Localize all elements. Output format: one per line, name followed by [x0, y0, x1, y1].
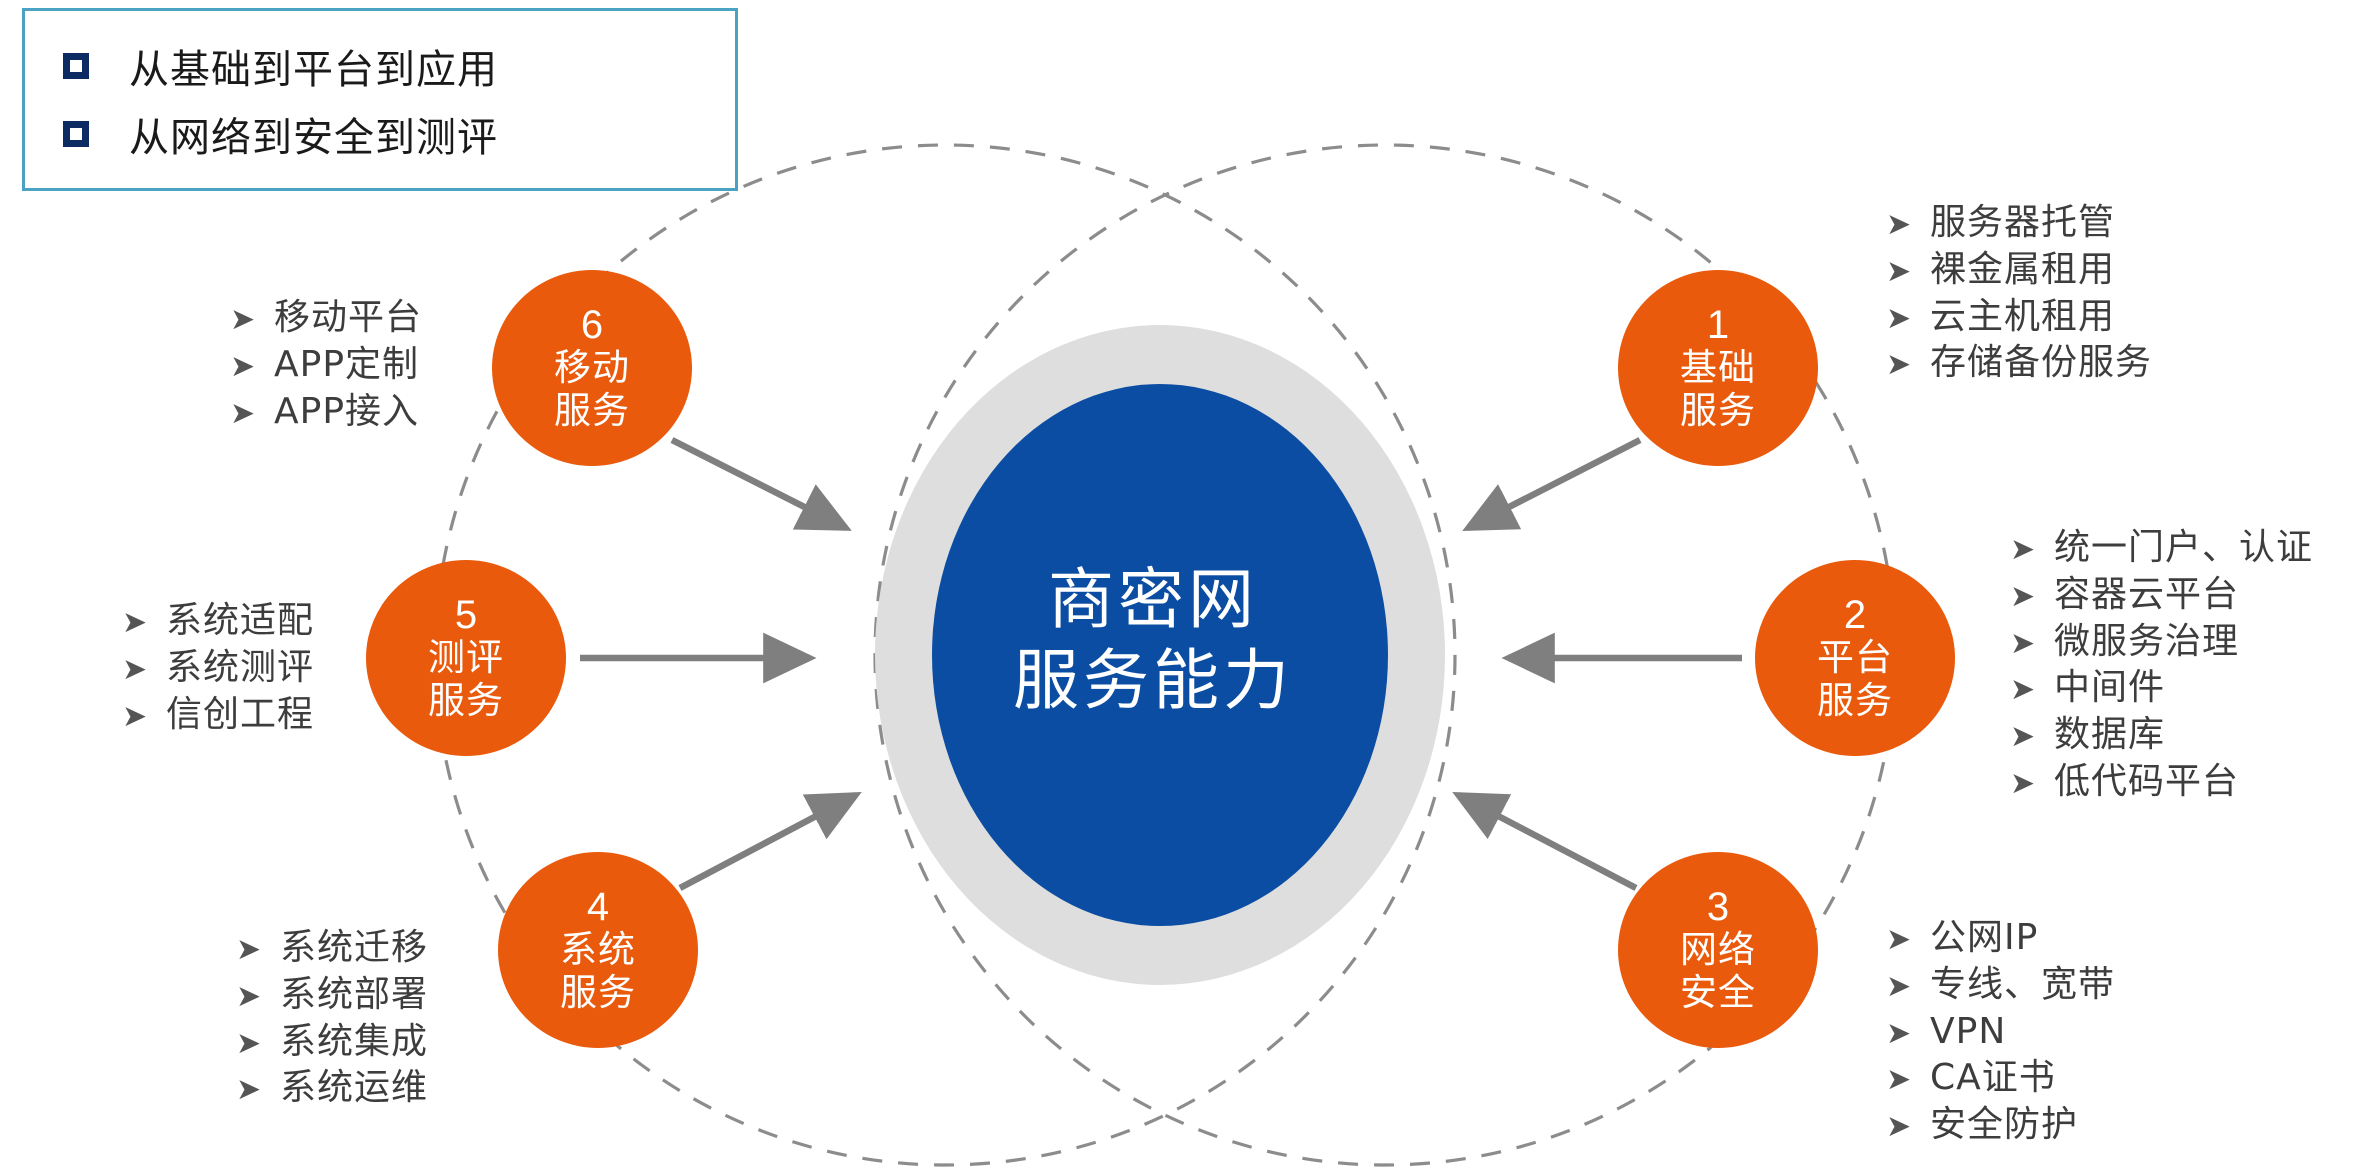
list-item-label: APP接入 — [274, 389, 419, 436]
arrow-node6-to-center — [672, 440, 846, 528]
list-item: ➤公网IP — [1886, 915, 2115, 962]
list-item: ➤低代码平台 — [2010, 759, 2313, 806]
node-circle-6 — [492, 270, 692, 466]
arrow-bullet-icon: ➤ — [1886, 345, 1930, 384]
arrow-bullet-icon: ➤ — [236, 1024, 280, 1063]
list-item-label: CA证书 — [1930, 1055, 2056, 1102]
list-item-label: 服务器托管 — [1930, 200, 2115, 247]
arrow-bullet-icon: ➤ — [122, 650, 166, 689]
arrow-bullet-icon: ➤ — [230, 300, 274, 339]
list-item-label: 公网IP — [1930, 915, 2038, 962]
arrow-bullet-icon: ➤ — [1886, 967, 1930, 1006]
callout-item-2-label: 从网络到安全到测评 — [129, 105, 498, 163]
arrow-node3-to-center — [1458, 795, 1636, 888]
list-item: ➤系统测评 — [122, 645, 314, 692]
list-item: ➤存储备份服务 — [1886, 340, 2152, 387]
square-bullet-icon — [63, 121, 89, 147]
arrow-bullet-icon: ➤ — [1886, 1014, 1930, 1053]
feature-list-3: ➤公网IP➤专线、宽带➤VPN➤CA证书➤安全防护 — [1886, 915, 2115, 1149]
node-circle-2 — [1755, 560, 1955, 756]
list-item: ➤移动平台 — [230, 295, 422, 342]
arrow-bullet-icon: ➤ — [2010, 717, 2054, 756]
list-item-label: 系统部署 — [280, 972, 428, 1019]
list-item-label: 系统运维 — [280, 1065, 428, 1112]
square-bullet-icon — [63, 53, 89, 79]
list-item-label: 存储备份服务 — [1930, 340, 2152, 387]
list-item-label: 容器云平台 — [2054, 572, 2239, 619]
list-item: ➤APP定制 — [230, 342, 422, 389]
list-item: ➤云主机租用 — [1886, 294, 2152, 341]
list-item-label: 移动平台 — [274, 295, 422, 342]
list-item: ➤信创工程 — [122, 692, 314, 739]
arrow-bullet-icon: ➤ — [230, 347, 274, 386]
list-item: ➤容器云平台 — [2010, 572, 2313, 619]
feature-list-4: ➤系统迁移➤系统部署➤系统集成➤系统运维 — [236, 925, 428, 1112]
list-item: ➤CA证书 — [1886, 1055, 2115, 1102]
feature-list-1: ➤服务器托管➤裸金属租用➤云主机租用➤存储备份服务 — [1886, 200, 2152, 387]
list-item-label: 专线、宽带 — [1930, 962, 2115, 1009]
list-item-label: 数据库 — [2054, 712, 2165, 759]
callout-item-1: 从基础到平台到应用 — [63, 32, 735, 100]
list-item: ➤系统适配 — [122, 598, 314, 645]
node-circle-4 — [498, 852, 698, 1048]
list-item-label: 系统测评 — [166, 645, 314, 692]
feature-list-2: ➤统一门户、认证➤容器云平台➤微服务治理➤中间件➤数据库➤低代码平台 — [2010, 525, 2313, 806]
list-item-label: 信创工程 — [166, 692, 314, 739]
arrow-bullet-icon: ➤ — [122, 603, 166, 642]
list-item-label: 统一门户、认证 — [2054, 525, 2313, 572]
list-item: ➤系统集成 — [236, 1019, 428, 1066]
list-item: ➤系统迁移 — [236, 925, 428, 972]
feature-list-6: ➤移动平台➤APP定制➤APP接入 — [230, 295, 422, 435]
list-item-label: 系统迁移 — [280, 925, 428, 972]
node-circle-1 — [1618, 270, 1818, 466]
list-item: ➤安全防护 — [1886, 1102, 2115, 1149]
arrow-bullet-icon: ➤ — [2010, 764, 2054, 803]
node-circle-5 — [366, 560, 566, 756]
list-item: ➤系统部署 — [236, 972, 428, 1019]
arrow-bullet-icon: ➤ — [230, 394, 274, 433]
arrow-bullet-icon: ➤ — [236, 1070, 280, 1109]
list-item-label: APP定制 — [274, 342, 419, 389]
list-item: ➤统一门户、认证 — [2010, 525, 2313, 572]
arrow-bullet-icon: ➤ — [1886, 205, 1930, 244]
arrow-bullet-icon: ➤ — [236, 977, 280, 1016]
list-item-label: 系统适配 — [166, 598, 314, 645]
list-item-label: 系统集成 — [280, 1019, 428, 1066]
list-item: ➤中间件 — [2010, 665, 2313, 712]
arrow-bullet-icon: ➤ — [2010, 624, 2054, 663]
list-item-label: 安全防护 — [1930, 1102, 2078, 1149]
callout-box: 从基础到平台到应用 从网络到安全到测评 — [22, 8, 738, 191]
feature-list-5: ➤系统适配➤系统测评➤信创工程 — [122, 598, 314, 738]
arrow-bullet-icon: ➤ — [236, 930, 280, 969]
list-item-label: 低代码平台 — [2054, 759, 2239, 806]
callout-item-2: 从网络到安全到测评 — [63, 100, 735, 168]
list-item-label: 云主机租用 — [1930, 294, 2115, 341]
arrow-bullet-icon: ➤ — [2010, 530, 2054, 569]
node-circle-3 — [1618, 852, 1818, 1048]
list-item-label: 裸金属租用 — [1930, 247, 2115, 294]
arrow-bullet-icon: ➤ — [1886, 1107, 1930, 1146]
list-item-label: VPN — [1930, 1009, 2006, 1056]
list-item: ➤微服务治理 — [2010, 619, 2313, 666]
list-item: ➤VPN — [1886, 1009, 2115, 1056]
list-item: ➤APP接入 — [230, 389, 422, 436]
diagram-canvas: 从基础到平台到应用 从网络到安全到测评 — [0, 0, 2376, 1169]
arrow-bullet-icon: ➤ — [1886, 1060, 1930, 1099]
arrow-bullet-icon: ➤ — [1886, 299, 1930, 338]
list-item-label: 微服务治理 — [2054, 619, 2239, 666]
list-item: ➤数据库 — [2010, 712, 2313, 759]
arrow-node1-to-center — [1468, 440, 1640, 528]
center-disc — [932, 384, 1388, 926]
list-item: ➤专线、宽带 — [1886, 962, 2115, 1009]
arrow-bullet-icon: ➤ — [2010, 577, 2054, 616]
list-item-label: 中间件 — [2054, 665, 2165, 712]
callout-item-1-label: 从基础到平台到应用 — [129, 37, 498, 95]
arrow-bullet-icon: ➤ — [1886, 920, 1930, 959]
arrow-node4-to-center — [680, 795, 856, 888]
arrow-bullet-icon: ➤ — [1886, 252, 1930, 291]
arrow-bullet-icon: ➤ — [122, 697, 166, 736]
list-item: ➤系统运维 — [236, 1065, 428, 1112]
arrow-bullet-icon: ➤ — [2010, 670, 2054, 709]
list-item: ➤裸金属租用 — [1886, 247, 2152, 294]
list-item: ➤服务器托管 — [1886, 200, 2152, 247]
